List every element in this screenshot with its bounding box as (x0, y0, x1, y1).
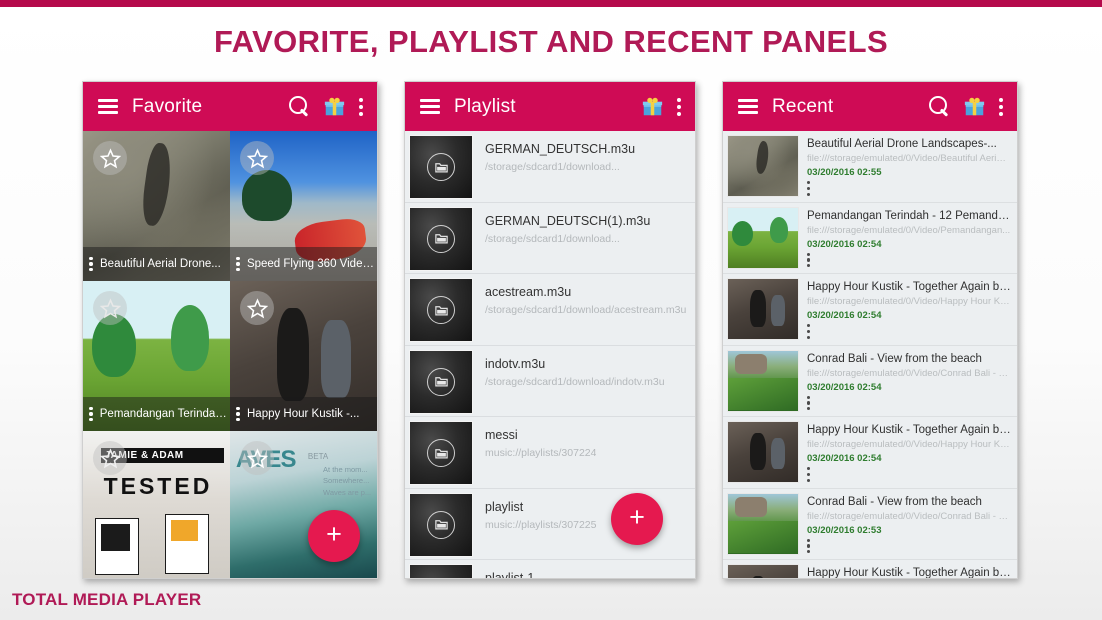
add-fab-button[interactable]: + (611, 493, 663, 545)
favorite-panel: Favorite (82, 81, 378, 579)
more-vertical-icon[interactable] (236, 257, 240, 272)
recent-row[interactable]: Conrad Bali - View from the beachfile://… (723, 489, 1017, 561)
plus-icon: + (629, 504, 645, 531)
thumbnail-art (728, 565, 798, 579)
video-thumbnail (727, 421, 799, 483)
video-thumbnail (727, 135, 799, 197)
playlist-row[interactable]: playlist-1 (405, 560, 695, 579)
folder-thumbnail (409, 278, 473, 342)
folder-icon (427, 225, 455, 253)
more-vertical-icon[interactable] (236, 407, 240, 422)
tile-footer: Happy Hour Kustik -... (230, 397, 377, 431)
thumbnail-art (728, 351, 798, 411)
gift-icon[interactable] (324, 96, 345, 117)
favorite-appbar: Favorite (83, 82, 377, 131)
recent-row-title: Conrad Bali - View from the beach (807, 496, 1011, 508)
tile-title: Happy Hour Kustik -... (247, 408, 359, 420)
recent-panel: Recent Beautiful Aerial Dro (722, 81, 1018, 579)
playlist-row-subtitle: /storage/sdcard1/download/indotv.m3u (485, 376, 665, 388)
recent-row-path: file:///storage/emulated/0/Video/Pemanda… (807, 225, 1011, 236)
recent-row-date: 03/20/2016 02:54 (807, 382, 1011, 393)
folder-icon (427, 296, 455, 324)
tile-overlay-beta: BETA (308, 452, 328, 461)
recent-row-title: Pemandangan Terindah - 12 Pemandangan... (807, 210, 1011, 222)
thumbnail-art (728, 136, 798, 196)
tile-footer: Speed Flying 360 Video... (230, 247, 377, 281)
tile-overlay-text: At the mom...Somewhere...Waves are p... (323, 464, 371, 498)
video-thumbnail (727, 207, 799, 269)
video-thumbnail (727, 493, 799, 555)
recent-row[interactable]: Happy Hour Kustik - Together Again by Da… (723, 560, 1017, 579)
plus-icon: + (326, 521, 342, 548)
playlist-row[interactable]: acestream.m3u/storage/sdcard1/download/a… (405, 274, 695, 346)
recent-row-path: file:///storage/emulated/0/Video/Happy H… (807, 439, 1011, 450)
tile-title: Speed Flying 360 Video... (247, 258, 377, 270)
recent-row-date: 03/20/2016 02:55 (807, 167, 1011, 178)
thumbnail-art (728, 279, 798, 339)
more-vertical-icon[interactable] (807, 181, 811, 196)
recent-row[interactable]: Happy Hour Kustik - Together Again by Da… (723, 274, 1017, 346)
thumbnail-art (728, 422, 798, 482)
more-vertical-icon[interactable] (807, 324, 811, 339)
favorite-tile[interactable]: AVES BETA At the mom...Somewhere...Waves… (230, 431, 377, 579)
more-vertical-icon[interactable] (999, 98, 1003, 116)
star-outline-icon[interactable] (93, 141, 127, 175)
folder-icon (427, 511, 455, 539)
favorite-tile[interactable]: Pemandangan Terindah -... (83, 281, 230, 431)
video-thumbnail (727, 564, 799, 579)
recent-row-path: file:///storage/emulated/0/Video/Beautif… (807, 153, 1011, 164)
favorite-tile[interactable]: JAMIE & ADAM TESTED (83, 431, 230, 579)
recent-row[interactable]: Conrad Bali - View from the beachfile://… (723, 346, 1017, 418)
playlist-row[interactable]: GERMAN_DEUTSCH.m3u/storage/sdcard1/downl… (405, 131, 695, 203)
recent-row-path: file:///storage/emulated/0/Video/Conrad … (807, 511, 1011, 522)
playlist-row-title: GERMAN_DEUTSCH.m3u (485, 142, 635, 156)
folder-thumbnail (409, 421, 473, 485)
recent-row-title: Happy Hour Kustik - Together Again by Da… (807, 281, 1011, 293)
more-vertical-icon[interactable] (807, 396, 811, 411)
more-vertical-icon[interactable] (807, 467, 811, 482)
playlist-row-subtitle: /storage/sdcard1/download... (485, 233, 650, 245)
page-title: FAVORITE, PLAYLIST AND RECENT PANELS (0, 24, 1102, 60)
playlist-row-title: playlist (485, 500, 596, 514)
star-outline-icon[interactable] (93, 441, 127, 475)
more-vertical-icon[interactable] (677, 98, 681, 116)
recent-row-date: 03/20/2016 02:53 (807, 525, 1011, 536)
recent-row-date: 03/20/2016 02:54 (807, 453, 1011, 464)
footer-brand-label: TOTAL MEDIA PLAYER (12, 590, 201, 610)
playlist-row-title: GERMAN_DEUTSCH(1).m3u (485, 214, 650, 228)
recent-row[interactable]: Beautiful Aerial Drone Landscapes-...fil… (723, 131, 1017, 203)
favorite-tile[interactable]: Happy Hour Kustik -... (230, 281, 377, 431)
more-vertical-icon[interactable] (359, 98, 363, 116)
folder-thumbnail (409, 207, 473, 271)
search-icon[interactable] (929, 96, 950, 117)
playlist-row-subtitle: /storage/sdcard1/download/acestream.m3u (485, 304, 686, 316)
recent-row-title: Happy Hour Kustik - Together Again by Da… (807, 567, 1011, 579)
hamburger-icon[interactable] (98, 99, 118, 114)
star-outline-icon[interactable] (240, 141, 274, 175)
folder-icon (427, 153, 455, 181)
folder-thumbnail (409, 493, 473, 557)
recent-row-path: file:///storage/emulated/0/Video/Happy H… (807, 296, 1011, 307)
tile-overlay-line2: TESTED (104, 473, 222, 500)
tile-footer: Pemandangan Terindah -... (83, 397, 230, 431)
tile-title: Beautiful Aerial Drone... (100, 258, 221, 270)
recent-row-date: 03/20/2016 02:54 (807, 239, 1011, 250)
hamburger-icon[interactable] (738, 99, 758, 114)
recent-row-title: Conrad Bali - View from the beach (807, 353, 1011, 365)
video-thumbnail (727, 278, 799, 340)
slide-canvas: FAVORITE, PLAYLIST AND RECENT PANELS TOT… (0, 0, 1102, 620)
playlist-row[interactable]: GERMAN_DEUTSCH(1).m3u/storage/sdcard1/do… (405, 203, 695, 275)
folder-thumbnail (409, 564, 473, 579)
playlist-row-title: playlist-1 (485, 571, 534, 579)
folder-thumbnail (409, 135, 473, 199)
thumbnail-art (728, 208, 798, 268)
playlist-row[interactable]: indotv.m3u/storage/sdcard1/download/indo… (405, 346, 695, 418)
playlist-appbar-title: Playlist (454, 96, 642, 118)
playlist-row[interactable]: messimusic://playlists/307224 (405, 417, 695, 489)
folder-thumbnail (409, 350, 473, 414)
playlist-panel: Playlist GERMAN_DEUTSCH.m3u/storage/ (404, 81, 696, 579)
video-thumbnail (727, 350, 799, 412)
thumbnail-art (728, 494, 798, 554)
recent-row-path: file:///storage/emulated/0/Video/Conrad … (807, 368, 1011, 379)
favorite-appbar-title: Favorite (132, 96, 289, 118)
more-vertical-icon[interactable] (807, 253, 811, 268)
recent-row[interactable]: Happy Hour Kustik - Together Again by Da… (723, 417, 1017, 489)
more-vertical-icon[interactable] (807, 539, 811, 554)
tile-footer: Beautiful Aerial Drone... (83, 247, 230, 281)
recent-appbar-title: Recent (772, 96, 929, 118)
more-vertical-icon[interactable] (89, 407, 93, 422)
favorite-tile[interactable]: Speed Flying 360 Video... (230, 131, 377, 281)
playlist-appbar: Playlist (405, 82, 695, 131)
gift-icon[interactable] (642, 96, 663, 117)
recent-row[interactable]: Pemandangan Terindah - 12 Pemandangan...… (723, 203, 1017, 275)
playlist-row-title: messi (485, 428, 596, 442)
playlist-row-subtitle: music://playlists/307225 (485, 519, 596, 531)
add-fab-button[interactable]: + (308, 510, 360, 562)
playlist-row-subtitle: /storage/sdcard1/download... (485, 161, 635, 173)
recent-row-title: Beautiful Aerial Drone Landscapes-... (807, 138, 1011, 150)
favorite-tile[interactable]: Beautiful Aerial Drone... (83, 131, 230, 281)
folder-icon (427, 368, 455, 396)
star-outline-icon[interactable] (93, 291, 127, 325)
more-vertical-icon[interactable] (89, 257, 93, 272)
tile-title: Pemandangan Terindah -... (100, 408, 230, 420)
playlist-row-title: acestream.m3u (485, 285, 686, 299)
recent-appbar: Recent (723, 82, 1017, 131)
recent-row-date: 03/20/2016 02:54 (807, 310, 1011, 321)
recent-list: Beautiful Aerial Drone Landscapes-...fil… (723, 131, 1017, 579)
playlist-row-title: indotv.m3u (485, 357, 665, 371)
gift-icon[interactable] (964, 96, 985, 117)
top-accent-bar (0, 0, 1102, 7)
star-outline-icon[interactable] (240, 441, 274, 475)
star-outline-icon[interactable] (240, 291, 274, 325)
folder-icon (427, 439, 455, 467)
hamburger-icon[interactable] (420, 99, 440, 114)
search-icon[interactable] (289, 96, 310, 117)
recent-row-title: Happy Hour Kustik - Together Again by Da… (807, 424, 1011, 436)
playlist-row-subtitle: music://playlists/307224 (485, 447, 596, 459)
